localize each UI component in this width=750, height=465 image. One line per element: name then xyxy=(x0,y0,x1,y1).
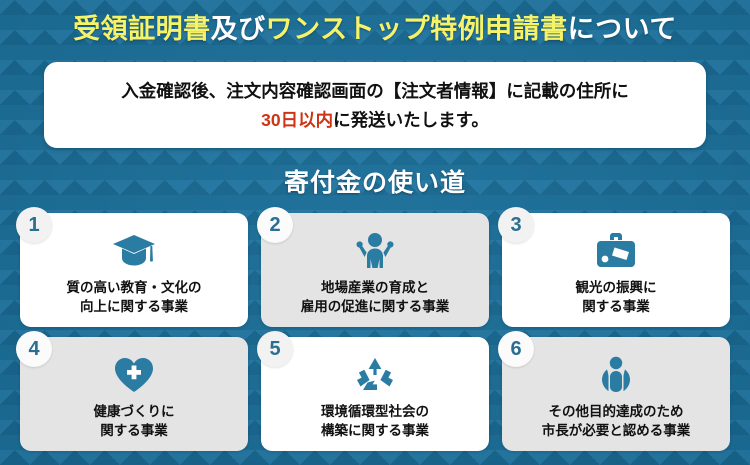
donation-usage-grid: 1 質の高い教育・文化の 向上に関する事業 2 xyxy=(20,213,730,451)
page-title-segment-3: ワンストップ特例申請書 xyxy=(266,14,568,44)
usage-card-2-label-line2: 雇用の促進に関する事業 xyxy=(301,297,450,316)
usage-card-3-number-badge: 3 xyxy=(498,207,534,243)
notice-deadline-text: 30日以内 xyxy=(261,110,333,130)
usage-card-6-label: その他目的達成のため 市長が必要と認める事業 xyxy=(542,402,691,440)
usage-card-4-label-line2: 関する事業 xyxy=(94,421,175,440)
usage-card-3[interactable]: 3 観光の振興に 関する事業 xyxy=(502,213,730,327)
notice-card: 入金確認後、注文内容確認画面の【注文者情報】に記載の住所に 30日以内に発送いた… xyxy=(44,62,706,148)
usage-card-3-label-line2: 関する事業 xyxy=(576,297,657,316)
usage-card-1[interactable]: 1 質の高い教育・文化の 向上に関する事業 xyxy=(20,213,248,327)
graduation-cap-icon xyxy=(105,230,163,272)
usage-card-4-number-badge: 4 xyxy=(16,331,52,367)
usage-card-5[interactable]: 5 環境循環型社会の xyxy=(261,337,489,451)
usage-card-6-label-line2: 市長が必要と認める事業 xyxy=(542,421,691,440)
usage-card-1-number-badge: 1 xyxy=(16,207,52,243)
page-title: 受領証明書及びワンストップ特例申請書について xyxy=(0,12,750,46)
notice-line-2: 30日以内に発送いたします。 xyxy=(44,106,706,135)
usage-card-4-label-line1: 健康づくりに xyxy=(94,402,175,421)
usage-card-5-label-line1: 環境循環型社会の xyxy=(321,402,429,421)
usage-card-1-label-line1: 質の高い教育・文化の xyxy=(67,278,202,297)
page-title-segment-2: 及び xyxy=(211,14,266,44)
usage-card-6[interactable]: 6 その他目的達成のため 市長が必要と認める事業 xyxy=(502,337,730,451)
notice-line-2-rest: に発送いたします。 xyxy=(333,110,489,130)
usage-card-2[interactable]: 2 地場産業の育成と 雇用の促進に関する事業 xyxy=(261,213,489,327)
usage-card-2-label: 地場産業の育成と 雇用の促進に関する事業 xyxy=(301,278,450,316)
usage-card-4[interactable]: 4 健康づくりに 関する事業 xyxy=(20,337,248,451)
usage-card-2-number-badge: 2 xyxy=(257,207,293,243)
suitcase-icon xyxy=(587,230,645,272)
usage-card-1-label: 質の高い教育・文化の 向上に関する事業 xyxy=(67,278,202,316)
page-title-segment-1: 受領証明書 xyxy=(73,14,211,44)
usage-card-1-label-line2: 向上に関する事業 xyxy=(67,297,202,316)
recycle-icon xyxy=(346,354,404,396)
usage-card-5-number-badge: 5 xyxy=(257,331,293,367)
usage-card-3-label: 観光の振興に 関する事業 xyxy=(576,278,657,316)
usage-card-5-label: 環境循環型社会の 構築に関する事業 xyxy=(321,402,429,440)
notice-line-1: 入金確認後、注文内容確認画面の【注文者情報】に記載の住所に xyxy=(44,77,706,106)
usage-card-3-label-line1: 観光の振興に xyxy=(576,278,657,297)
infographic-root: 受領証明書及びワンストップ特例申請書について 入金確認後、注文内容確認画面の【注… xyxy=(0,0,750,465)
person-open-arms-icon xyxy=(587,354,645,396)
usage-card-6-label-line1: その他目的達成のため xyxy=(542,402,691,421)
section-heading: 寄付金の使い道 xyxy=(0,163,750,199)
usage-card-6-number-badge: 6 xyxy=(498,331,534,367)
usage-card-2-label-line1: 地場産業の育成と xyxy=(301,278,450,297)
usage-card-5-label-line2: 構築に関する事業 xyxy=(321,421,429,440)
heart-plus-icon xyxy=(105,354,163,396)
worker-cheering-icon xyxy=(346,230,404,272)
page-title-segment-4: について xyxy=(568,14,677,44)
usage-card-4-label: 健康づくりに 関する事業 xyxy=(94,402,175,440)
